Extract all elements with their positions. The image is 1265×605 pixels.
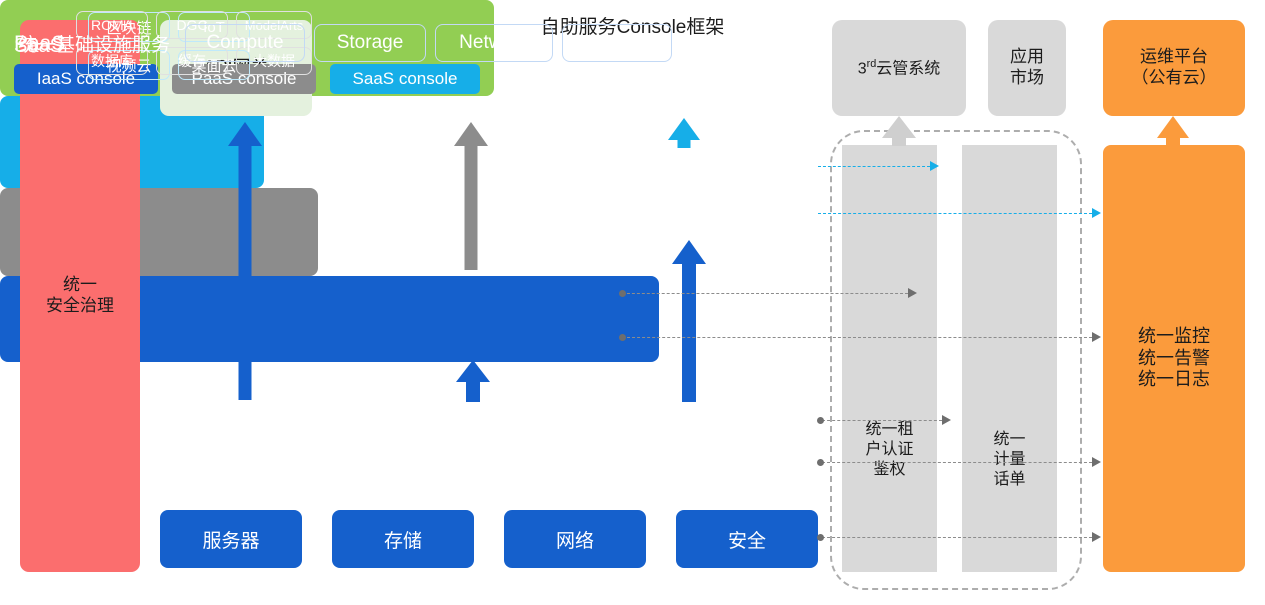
connector-hardware-to-ops	[822, 537, 1092, 538]
arrow-shaft	[678, 138, 691, 148]
connector-paas-to-ops	[622, 337, 1092, 338]
arrow-head-icon	[672, 240, 706, 264]
unified-metering-billing-label: 统一 计量 话单	[962, 430, 1057, 490]
connector-arrow-icon	[908, 288, 917, 298]
unified-monitoring-column[interactable]: 统一监控 统一告警 统一日志	[1103, 145, 1245, 572]
arrow-shaft	[466, 380, 480, 402]
unified-tenant-auth-column[interactable]: 统一租 户认证 鉴权	[842, 145, 937, 572]
hardware-box-security-label: 安全	[728, 526, 766, 553]
connector-source-dot	[817, 534, 824, 541]
arrow-up-api-gateway	[228, 122, 262, 400]
third-party-cloud-management-label: 3rd云管系统	[858, 58, 941, 79]
arrow-head-icon	[1157, 116, 1189, 138]
infra-chip-storage-label: Storage	[337, 32, 404, 54]
hardware-box-server[interactable]: 服务器	[160, 510, 302, 568]
connector-arrow-icon	[930, 161, 939, 171]
arrow-up-paas-to-console	[454, 122, 488, 270]
ops-platform-public-cloud-box[interactable]: 运维平台 （公有云）	[1103, 20, 1245, 116]
connector-arrow-icon	[1092, 208, 1101, 218]
app-marketplace-label: 应用 市场	[1010, 47, 1044, 88]
arrow-up-to-third-party-cloud	[882, 116, 916, 146]
connector-saas-to-ops	[818, 213, 1092, 214]
connector-source-dot	[817, 459, 824, 466]
hardware-box-storage[interactable]: 存储	[332, 510, 474, 568]
arrow-head-icon	[456, 360, 490, 382]
arrow-up-to-ops-platform	[1157, 116, 1189, 146]
ops-platform-public-cloud-label: 运维平台 （公有云）	[1132, 47, 1217, 88]
infra-chip-network[interactable]: Network	[435, 24, 553, 62]
security-governance-panel[interactable]: 统一 安全治理	[20, 20, 140, 572]
hardware-box-storage-label: 存储	[384, 526, 422, 553]
arrow-shaft	[1166, 136, 1180, 146]
infra-chip-storage[interactable]: Storage	[314, 24, 426, 62]
arrow-head-icon	[882, 116, 916, 138]
arrow-up-saas-to-console	[668, 118, 700, 148]
architecture-diagram: 统一 安全治理 API网关 自助服务Console框架 IaaS console…	[0, 0, 1265, 605]
unified-tenant-auth-label: 统一租 户认证 鉴权	[842, 420, 937, 480]
infra-chip-cce-label: CCE	[597, 32, 637, 54]
connector-source-dot	[817, 417, 824, 424]
connector-arrow-icon	[1092, 532, 1101, 542]
connector-arrow-icon	[942, 415, 951, 425]
app-marketplace-box[interactable]: 应用 市场	[988, 20, 1066, 116]
arrow-shaft	[892, 136, 906, 146]
connector-paas-to-auth	[622, 293, 908, 294]
security-governance-label: 统一 安全治理	[46, 275, 114, 316]
connector-infra-to-ops	[822, 462, 1092, 463]
unified-infrastructure-label: 统一基础设施服务	[18, 0, 170, 86]
infra-chip-cce[interactable]: CCE	[562, 24, 672, 62]
arrow-head-icon	[668, 118, 700, 140]
infra-chip-compute[interactable]: Compute	[185, 24, 305, 62]
arrow-up-infra-to-saas	[672, 240, 706, 402]
hardware-box-security[interactable]: 安全	[676, 510, 818, 568]
connector-arrow-icon	[1092, 332, 1101, 342]
hardware-box-network-label: 网络	[556, 526, 594, 553]
infra-chip-compute-label: Compute	[206, 32, 283, 54]
connector-source-dot	[619, 334, 626, 341]
unified-metering-billing-column[interactable]: 统一 计量 话单	[962, 145, 1057, 572]
infra-chip-network-label: Network	[459, 32, 529, 54]
hardware-box-network[interactable]: 网络	[504, 510, 646, 568]
saas-console-label: SaaS console	[353, 69, 458, 89]
arrow-shaft	[465, 142, 478, 270]
saas-console-chip[interactable]: SaaS console	[330, 64, 480, 94]
connector-arrow-icon	[1092, 457, 1101, 467]
connector-source-dot	[619, 290, 626, 297]
third-party-cloud-management-box[interactable]: 3rd云管系统	[832, 20, 966, 116]
unified-monitoring-label: 统一监控 统一告警 统一日志	[1138, 326, 1210, 392]
arrow-up-infra-to-paas	[456, 360, 490, 402]
arrow-shaft	[239, 142, 252, 400]
arrow-shaft	[682, 262, 696, 402]
connector-infra-to-auth	[822, 420, 942, 421]
connector-saas-to-auth	[818, 166, 930, 167]
hardware-box-server-label: 服务器	[202, 526, 259, 553]
